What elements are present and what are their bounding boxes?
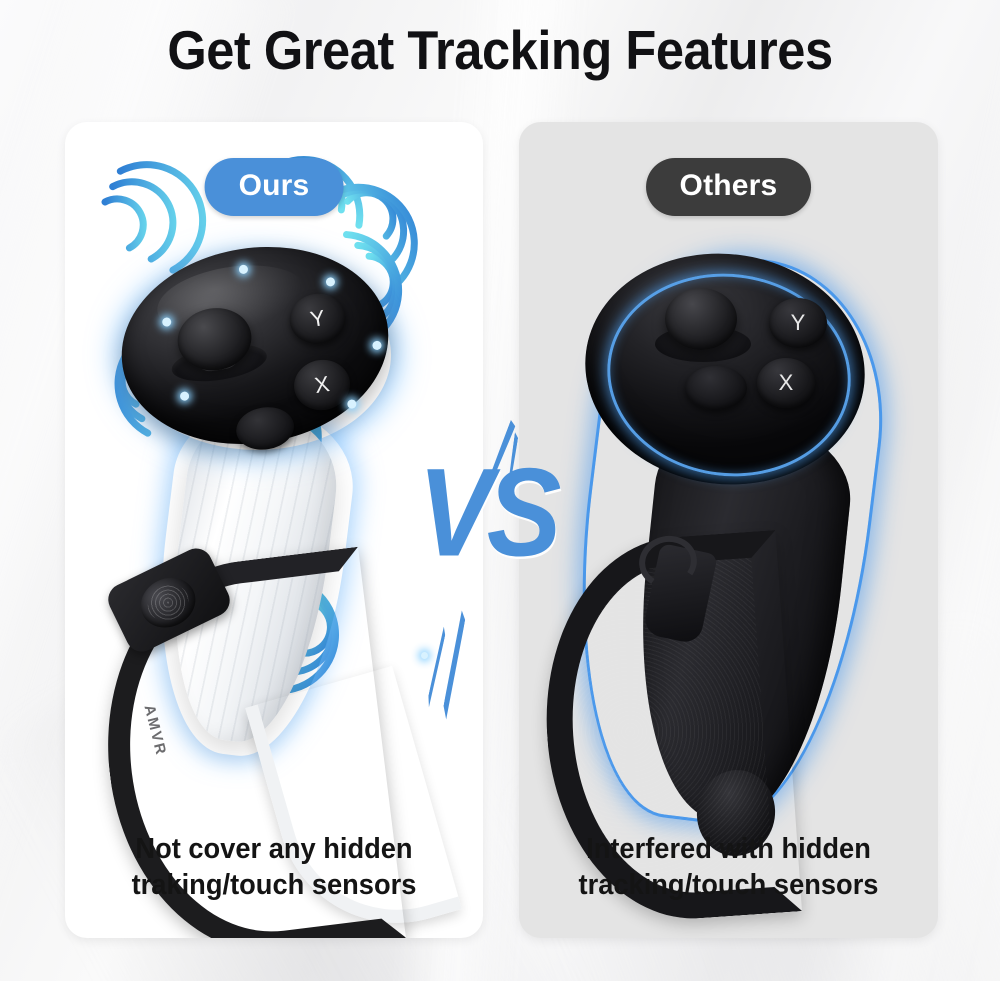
strap-knob-icon — [132, 569, 203, 637]
tracking-led-dot — [372, 340, 382, 350]
tracking-led-dot — [179, 391, 189, 401]
caption-ours: Not cover any hidden traking/touch senso… — [91, 831, 458, 904]
page-title: Get Great Tracking Features — [40, 18, 960, 82]
vs-label: VS — [418, 440, 555, 584]
button-x-others[interactable]: X — [757, 358, 815, 408]
vs-divider: VS — [406, 430, 596, 660]
tracking-led-dot — [325, 277, 335, 287]
caption-ours-line1: Not cover any hidden — [91, 831, 458, 868]
button-menu-others[interactable] — [685, 366, 747, 410]
caption-others: Interfered with hidden tracking/touch se… — [545, 831, 913, 904]
badge-others: Others — [646, 158, 812, 216]
button-y-others[interactable]: Y — [769, 298, 827, 348]
button-x-ours[interactable]: X — [290, 356, 353, 414]
caption-others-line1: Interfered with hidden — [545, 831, 913, 868]
caption-ours-line2: traking/touch sensors — [91, 867, 458, 904]
thumbstick-others[interactable] — [665, 288, 737, 350]
badge-ours: Ours — [205, 158, 344, 216]
caption-others-line2: tracking/touch sensors — [545, 867, 913, 904]
